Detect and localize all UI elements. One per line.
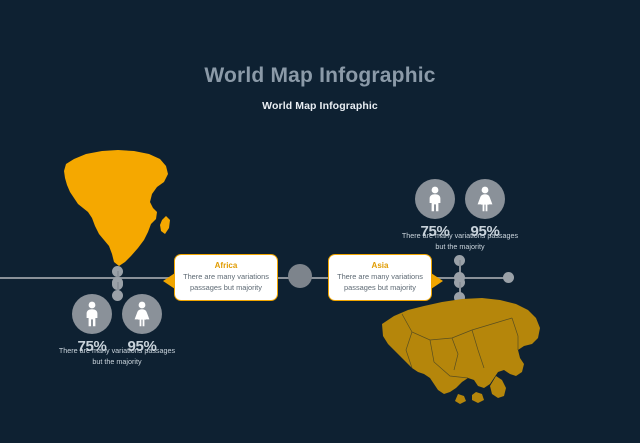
callout-heading: Asia (336, 261, 424, 270)
stats-cluster-asia: 75% 95% There are many variations passag… (400, 179, 520, 253)
callout-arrow-left-icon (163, 273, 175, 289)
page-subtitle: World Map Infographic (0, 100, 640, 112)
asia-map[interactable] (372, 288, 544, 406)
timeline-center-node[interactable] (288, 264, 312, 288)
callout-asia[interactable]: Asia There are many variations passages … (328, 254, 432, 301)
male-figure-icon (415, 179, 455, 219)
timeline-end-dot (503, 272, 514, 283)
africa-map[interactable] (56, 142, 184, 270)
callout-arrow-right-icon (431, 273, 443, 289)
female-figure-icon (122, 294, 162, 334)
callout-heading: Africa (182, 261, 270, 270)
callout-body: There are many variations passages but m… (182, 272, 270, 293)
infographic-canvas: World Map Infographic World Map Infograp… (0, 0, 640, 443)
stats-cluster-africa: 75% 95% There are many variations passag… (57, 294, 177, 368)
female-figure-icon (465, 179, 505, 219)
callout-africa[interactable]: Africa There are many variations passage… (174, 254, 278, 301)
male-figure-icon (72, 294, 112, 334)
stat-caption: There are many variations passages but t… (57, 346, 177, 368)
callout-body: There are many variations passages but m… (336, 272, 424, 293)
page-title: World Map Infographic (0, 64, 640, 88)
stat-caption: There are many variations passages but t… (400, 231, 520, 253)
